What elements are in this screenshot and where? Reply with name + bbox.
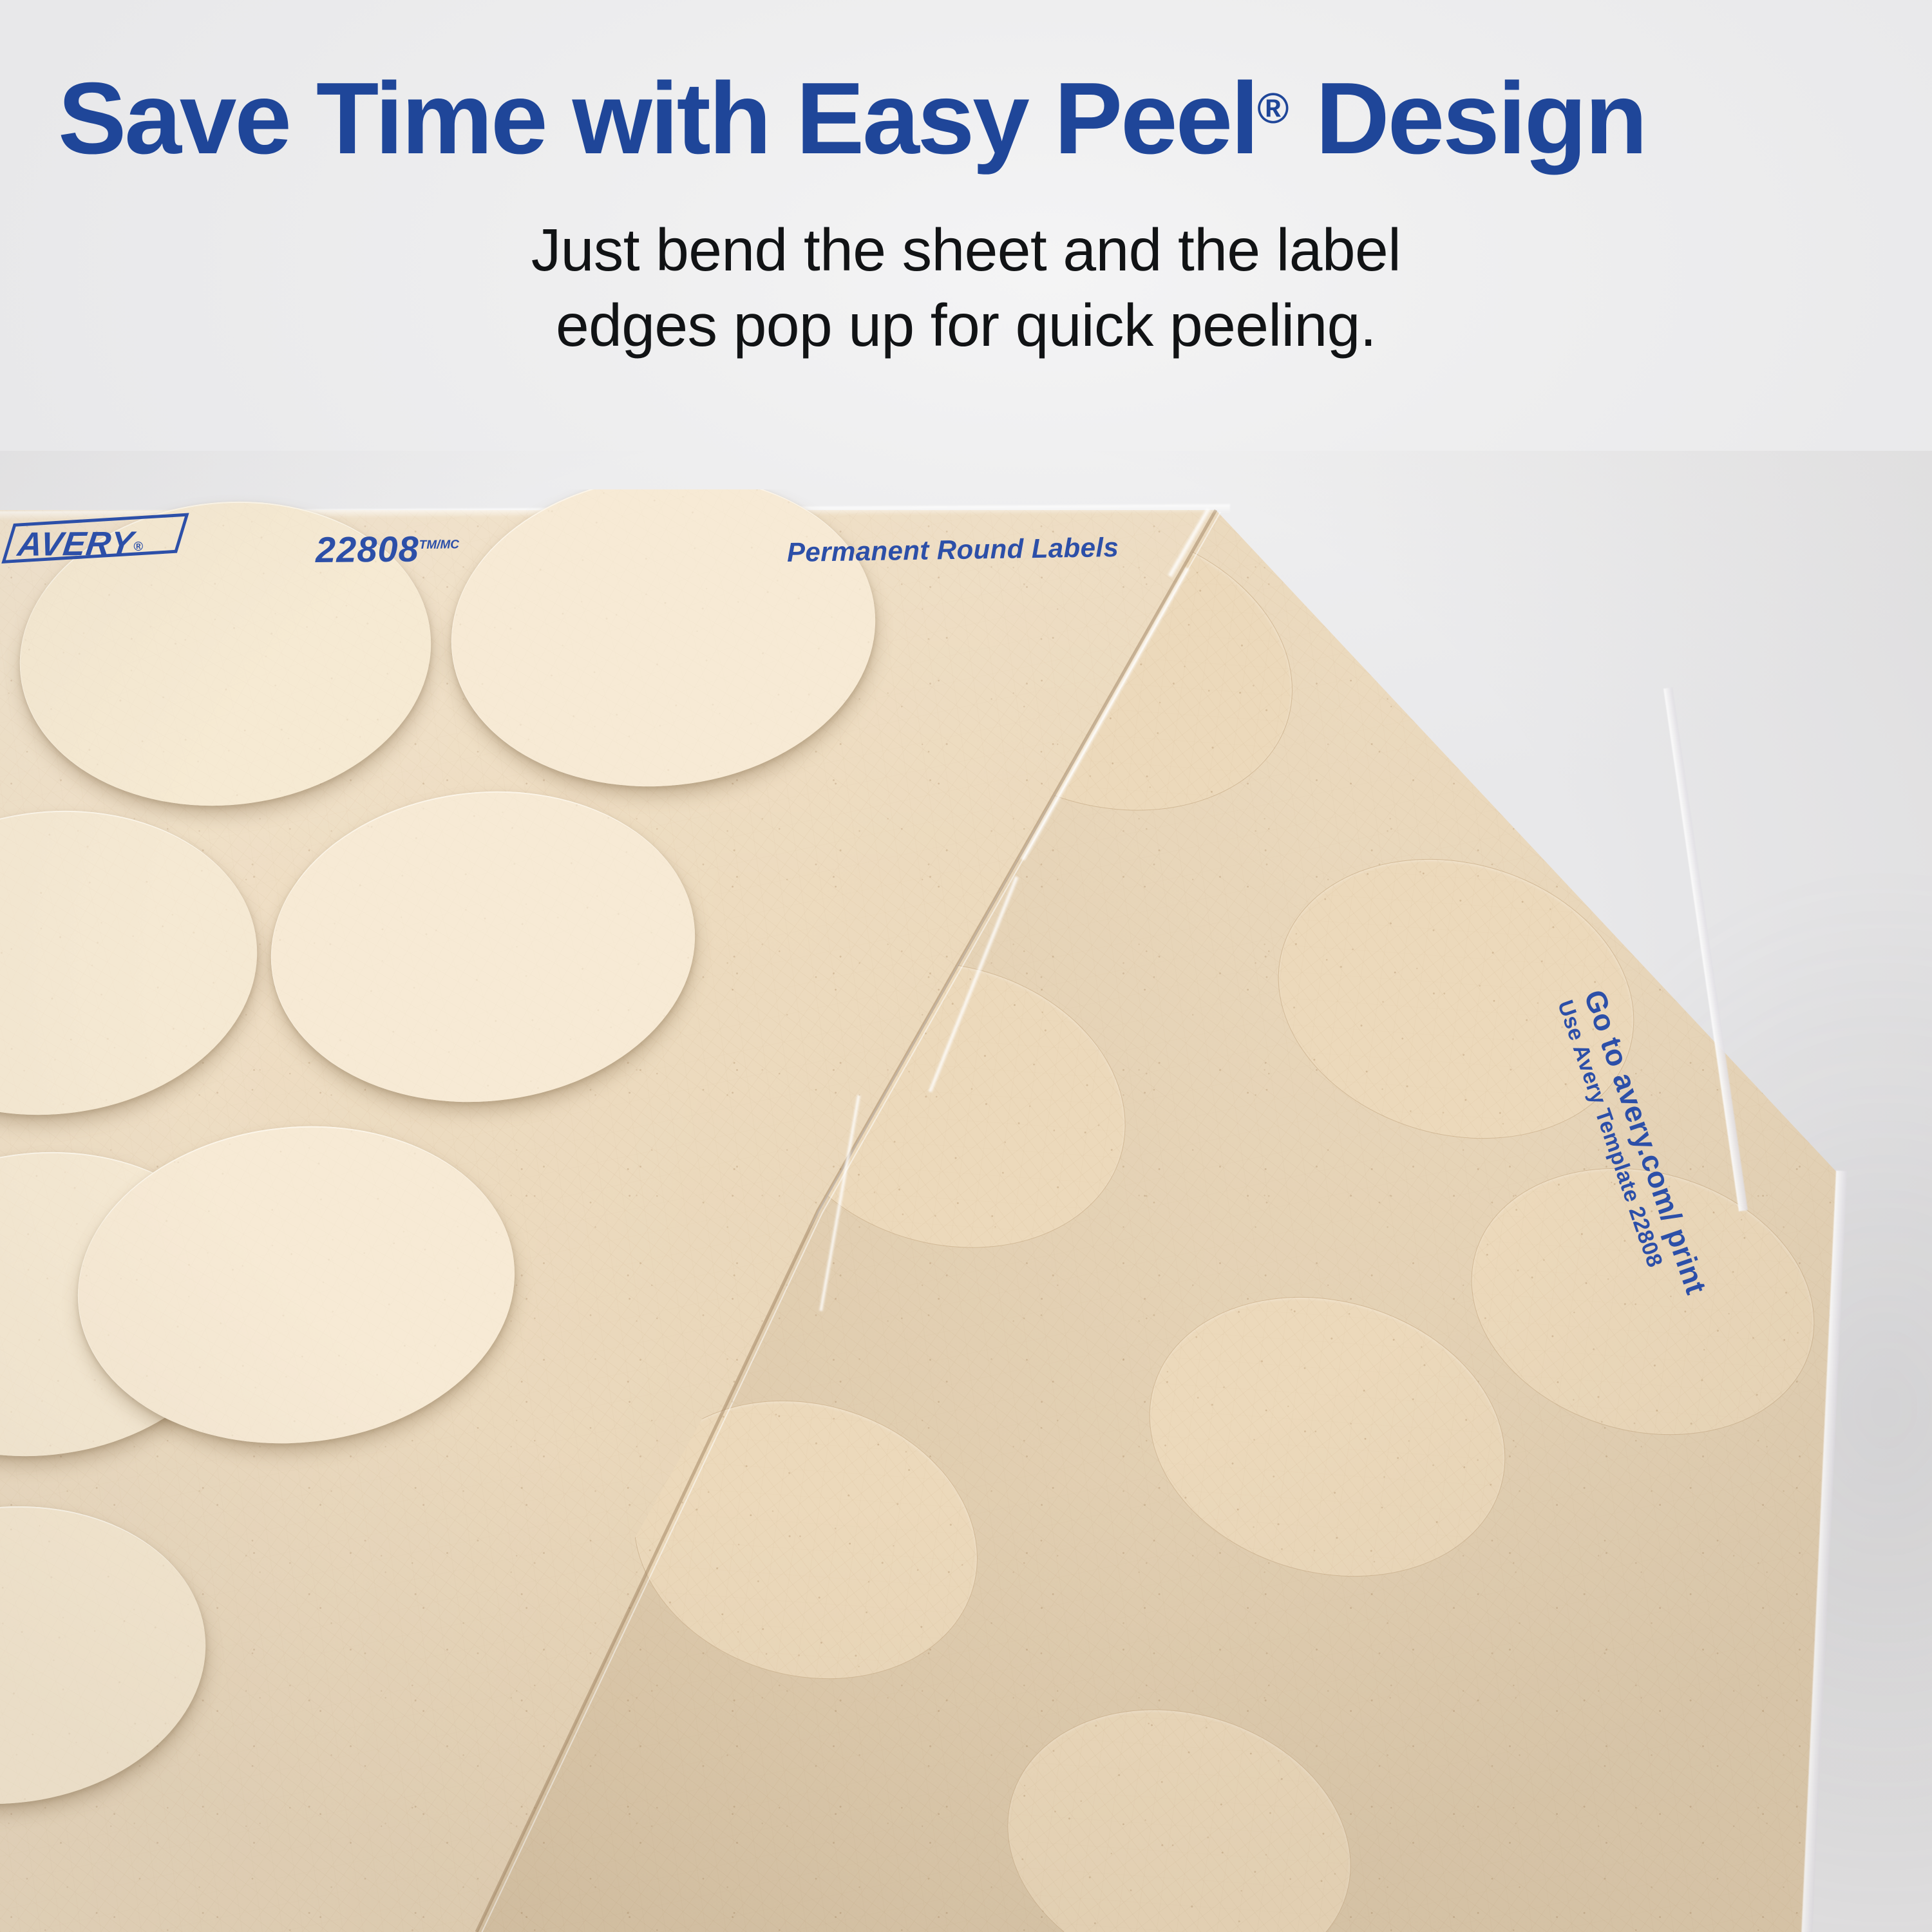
page-title: Save Time with Easy Peel® Design bbox=[58, 67, 1912, 171]
popped-round-label bbox=[436, 455, 891, 807]
registered-icon: ® bbox=[1257, 88, 1289, 131]
popped-round-label bbox=[0, 1487, 220, 1823]
popped-round-label bbox=[5, 482, 446, 826]
flat-round-label bbox=[975, 1670, 1384, 1932]
marketing-copy: Save Time with Easy Peel® Design Just be… bbox=[0, 0, 1932, 412]
subtitle-line-2: edges pop up for quick peeling. bbox=[0, 288, 1932, 363]
page-subtitle: Just bend the sheet and the label edges … bbox=[0, 213, 1932, 363]
subtitle-line-1: Just bend the sheet and the label bbox=[0, 213, 1932, 288]
label-tint bbox=[0, 1487, 220, 1823]
flat-round-label bbox=[1439, 1129, 1846, 1474]
popped-round-label bbox=[0, 791, 272, 1135]
label-tint bbox=[436, 455, 891, 807]
popped-round-label bbox=[256, 771, 711, 1122]
label-tint bbox=[5, 482, 446, 826]
headline-part-2: Design bbox=[1289, 62, 1645, 175]
headline-part-1: Save Time with Easy Peel bbox=[58, 62, 1257, 175]
label-tint bbox=[256, 771, 711, 1122]
product-banner: AVERY® 22808TM/MC Permanent Round Labels… bbox=[0, 0, 1932, 1932]
label-tint bbox=[0, 791, 272, 1135]
